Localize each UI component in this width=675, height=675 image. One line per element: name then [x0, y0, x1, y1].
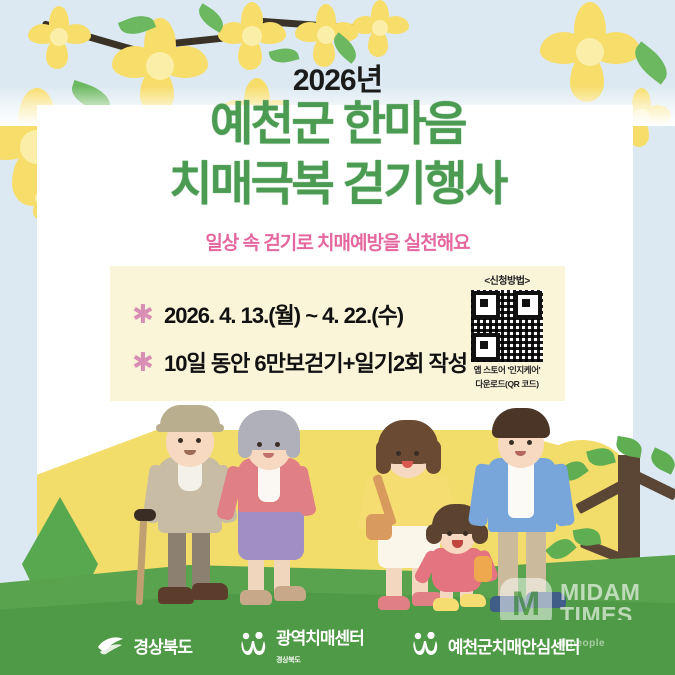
- star-bullet-icon: ✱: [132, 352, 152, 372]
- star-bullet-icon: ✱: [132, 304, 152, 324]
- poster-canvas: 2026년 예천군 한마음 치매극복 걷기행사 일상 속 걷기로 치매예방을 실…: [0, 0, 675, 675]
- logo-label: 광역치매센터 경상북도: [276, 630, 364, 666]
- logo-gyeongsangbukdo: 경상북도: [95, 633, 192, 662]
- dementia-center-icon: [410, 632, 440, 663]
- watermark-tagline: d people: [560, 638, 605, 649]
- event-date-text: 2026. 4. 13.(월) ~ 4. 22.(수): [164, 298, 403, 330]
- qr-heading: <신청방법>: [461, 272, 553, 287]
- logo-name: 광역치매센터: [276, 629, 364, 648]
- flower-icon: [352, 0, 408, 56]
- logo-label: 경상북도: [133, 639, 192, 657]
- dementia-center-icon: [238, 632, 268, 663]
- logo-gwangyeok-dementia-center: 광역치매센터 경상북도: [238, 630, 364, 666]
- year-label: 2026년: [0, 55, 675, 99]
- logo-subname: 경상북도: [276, 657, 301, 664]
- event-date-row: ✱ 2026. 4. 13.(월) ~ 4. 22.(수): [132, 298, 403, 330]
- qr-caption-line2: 다운로드(QR 코드): [461, 379, 553, 390]
- logo-yecheon-dementia-center: 예천군치매안심센터: [410, 632, 580, 663]
- shoulder-bag: [366, 514, 392, 540]
- event-task-text: 10일 동안 6만보걷기+일기2회 작성: [164, 346, 467, 378]
- qr-code-icon[interactable]: [471, 290, 543, 362]
- poster-title-line2: 치매극복 걷기행사: [0, 160, 675, 207]
- gyeongbuk-emblem-icon: [95, 633, 125, 662]
- event-task-row: ✱ 10일 동안 6만보걷기+일기2회 작성: [132, 346, 467, 378]
- poster-title-line1: 예천군 한마음: [0, 100, 675, 147]
- person-elderly-woman: [218, 408, 328, 620]
- event-info-box: ✱ 2026. 4. 13.(월) ~ 4. 22.(수) ✱ 10일 동안 6…: [110, 266, 565, 401]
- poster-subtitle: 일상 속 걷기로 치매예방을 실천해요: [0, 228, 675, 255]
- watermark-line1: MIDAM: [560, 581, 640, 604]
- qr-caption-line1: 앱 스토어 '인지케어': [461, 365, 553, 376]
- cane-handle: [134, 509, 156, 521]
- qr-application-block: <신청방법> 앱 스토어 '인지케어' 다운로드(QR 코드): [461, 272, 553, 391]
